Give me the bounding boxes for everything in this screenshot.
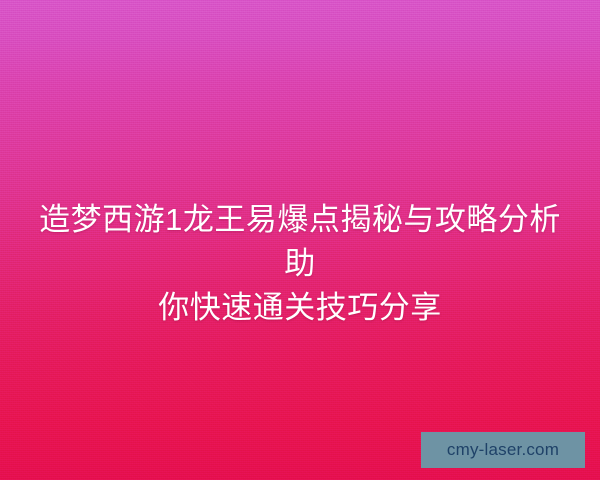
page-title: 造梦西游1龙王易爆点揭秘与攻略分析助 你快速通关技巧分享 [0, 198, 600, 330]
watermark-badge: cmy-laser.com [421, 432, 585, 468]
cover-card: 造梦西游1龙王易爆点揭秘与攻略分析助 你快速通关技巧分享 cmy-laser.c… [0, 0, 600, 480]
watermark-label: cmy-laser.com [447, 440, 559, 460]
